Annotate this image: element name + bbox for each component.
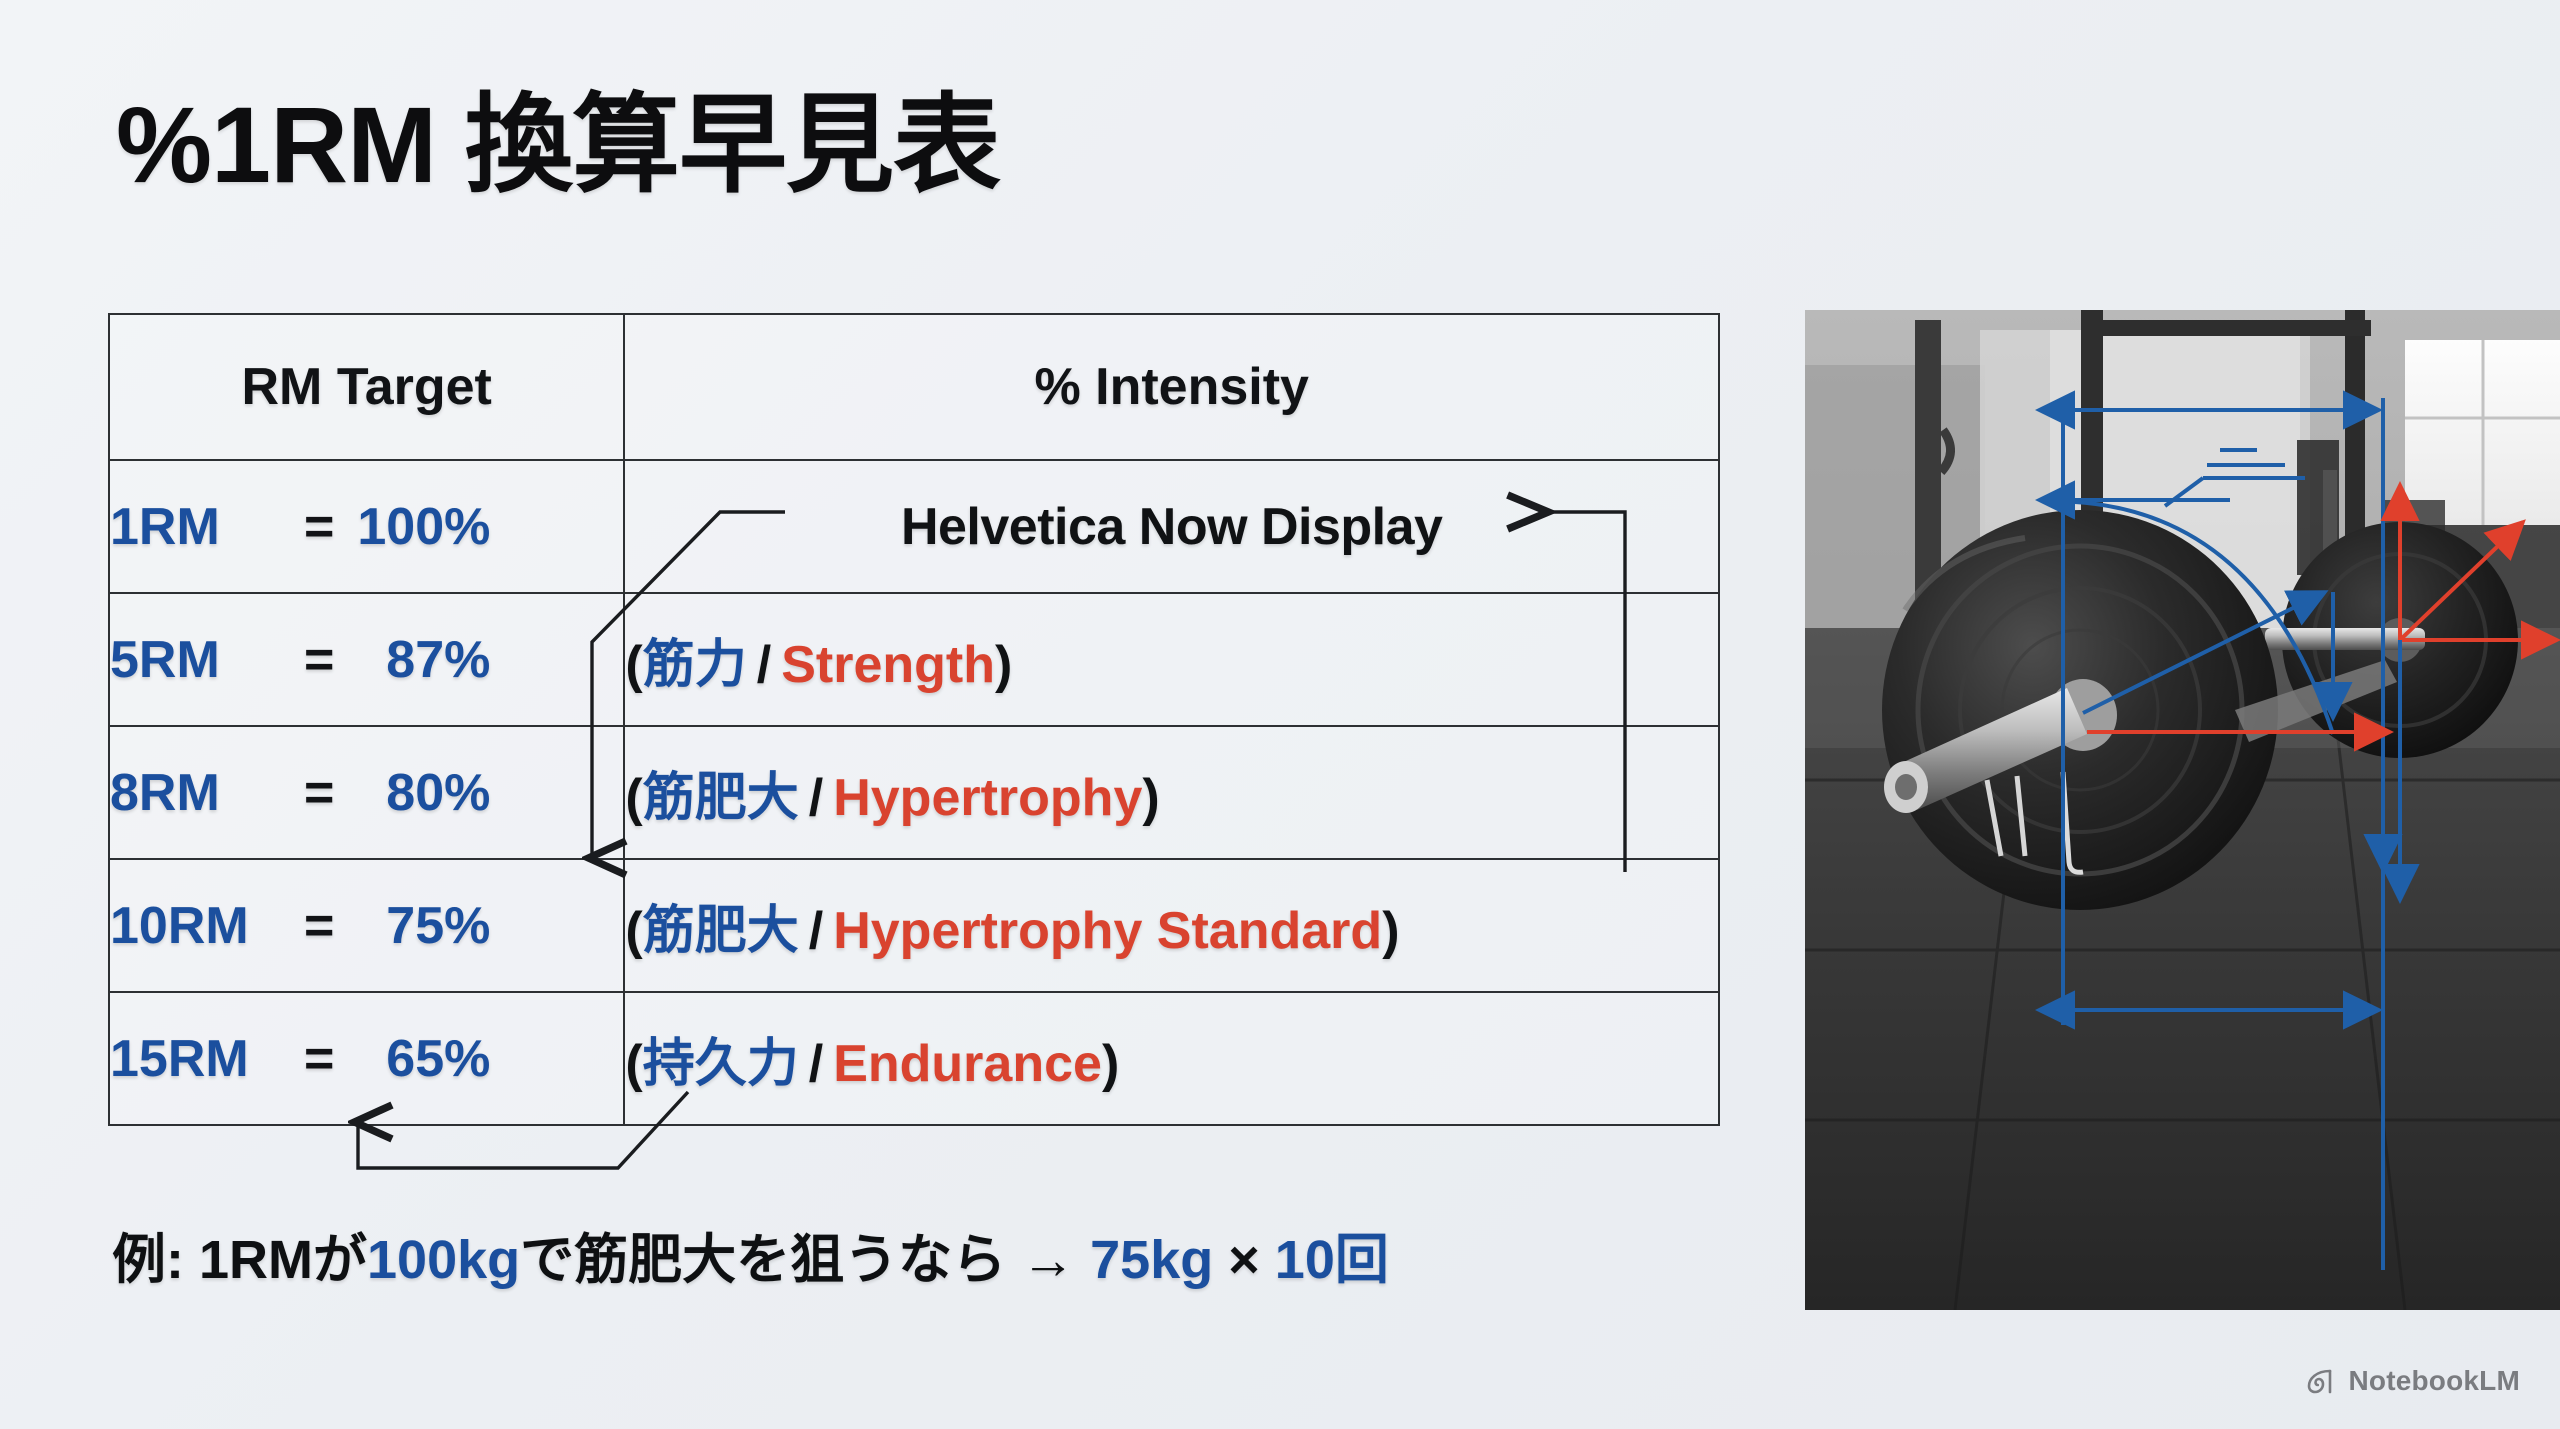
watermark-label: NotebookLM [2348,1365,2520,1397]
example-caption: 例: 1RMが100kgで筋肥大を狙うなら → 75kg × 10回 [112,1215,1389,1294]
caption-part-2: で筋肥大を狙うなら → [520,1230,1090,1290]
separator-slash: / [799,769,833,827]
barbell-photo [1805,310,2560,1310]
intensity-english: Hypertrophy Standard [833,902,1382,960]
caption-reps: 10回 [1275,1230,1389,1290]
rm-target-label: 1RM [110,497,298,557]
table-row: 5RM=87% (筋力/Strength) [109,593,1719,726]
notebooklm-spiral-icon [2304,1365,2336,1397]
open-paren: ( [625,1035,642,1093]
intensity-japanese: 筋力 [643,636,747,694]
equals-sign: = [298,897,340,955]
separator-slash: / [799,1035,833,1093]
cell-intensity: Helvetica Now Display [624,460,1719,593]
table-row: 8RM=80% (筋肥大/Hypertrophy) [109,726,1719,859]
column-header-rm-target: RM Target [109,314,624,460]
intensity-english: Strength [781,636,995,694]
rm-percent-value: 65% [340,1029,490,1089]
separator-slash: / [747,636,781,694]
equals-sign: = [298,498,340,556]
close-paren: ) [995,636,1012,694]
rm-target-label: 15RM [110,1029,298,1089]
cell-intensity: (持久力/Endurance) [624,992,1719,1125]
caption-part-1: 例: 1RMが [112,1230,367,1290]
close-paren: ) [1142,769,1159,827]
equals-sign: = [298,1030,340,1088]
cell-rm-target: 1RM=100% [109,460,624,593]
table-row: 15RM=65% (持久力/Endurance) [109,992,1719,1125]
table-header: RM Target % Intensity [109,314,1719,460]
separator-slash: / [799,902,833,960]
rm-target-label: 5RM [110,630,298,690]
close-paren: ) [1382,902,1399,960]
page-title: %1RM 換算早見表 [116,88,1000,201]
intensity-japanese: 持久力 [643,1035,799,1093]
cell-intensity: (筋力/Strength) [624,593,1719,726]
cell-rm-target: 8RM=80% [109,726,624,859]
open-paren: ( [625,902,642,960]
equals-sign: = [298,631,340,689]
rm-target-label: 10RM [110,896,298,956]
rm-conversion-table: RM Target % Intensity 1RM=100% Helvetica… [108,313,1720,1126]
cell-intensity: (筋肥大/Hypertrophy Standard) [624,859,1719,992]
intensity-english: Endurance [833,1035,1102,1093]
notebooklm-watermark: NotebookLM [2304,1365,2520,1397]
table-row: 10RM=75% (筋肥大/Hypertrophy Standard) [109,859,1719,992]
rm-percent-value: 75% [340,896,490,956]
table-header-row: RM Target % Intensity [109,314,1719,460]
caption-multiply: × [1213,1230,1275,1290]
close-paren: ) [1102,1035,1119,1093]
caption-weight-1rm: 100kg [367,1230,520,1290]
equals-sign: = [298,764,340,822]
cell-rm-target: 5RM=87% [109,593,624,726]
cell-rm-target: 10RM=75% [109,859,624,992]
intensity-japanese: 筋肥大 [643,902,799,960]
rack-upright [2345,310,2365,560]
intensity-japanese: 筋肥大 [643,769,799,827]
rm-percent-value: 80% [340,763,490,823]
cell-intensity: (筋肥大/Hypertrophy) [624,726,1719,859]
rm-target-label: 8RM [110,763,298,823]
open-paren: ( [625,636,642,694]
cell-rm-target: 15RM=65% [109,992,624,1125]
table-body: 1RM=100% Helvetica Now Display 5RM=87% (… [109,460,1719,1125]
rm-percent-value: 100% [340,497,490,557]
barbell-force-vector-diagram [1805,310,2560,1310]
rm-percent-value: 87% [340,630,490,690]
caption-weight-target: 75kg [1090,1230,1213,1290]
open-paren: ( [625,769,642,827]
intensity-english: Hypertrophy [833,769,1142,827]
intensity-plain-text: Helvetica Now Display [901,498,1443,556]
table-row: 1RM=100% Helvetica Now Display [109,460,1719,593]
column-header-intensity: % Intensity [624,314,1719,460]
